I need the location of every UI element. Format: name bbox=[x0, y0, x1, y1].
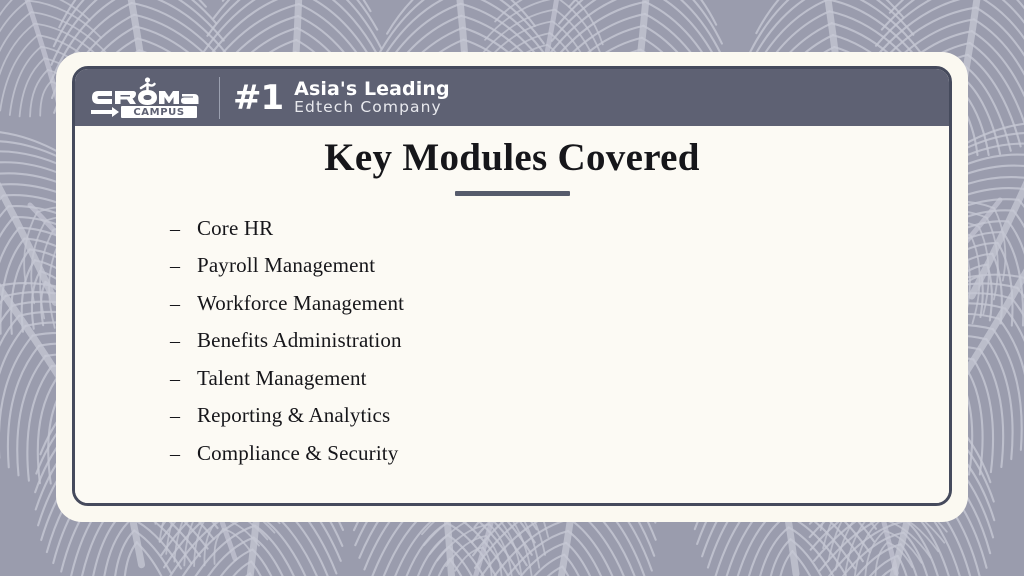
list-item: – Payroll Management bbox=[170, 253, 949, 278]
list-item: – Reporting & Analytics bbox=[170, 403, 949, 428]
slide-header: CAMPUS #1 Asia's Leading Edtech Company bbox=[75, 69, 949, 126]
bullet-dash-icon: – bbox=[170, 293, 197, 316]
list-item: – Compliance & Security bbox=[170, 441, 949, 466]
list-item: – Talent Management bbox=[170, 366, 949, 391]
page-title: Key Modules Covered bbox=[75, 136, 949, 181]
list-item: – Workforce Management bbox=[170, 291, 949, 316]
bullet-dash-icon: – bbox=[170, 443, 197, 466]
svg-text:CAMPUS: CAMPUS bbox=[133, 107, 184, 118]
rank-badge: #1 bbox=[233, 81, 283, 115]
croma-campus-logo: CAMPUS bbox=[89, 76, 205, 120]
list-item: – Benefits Administration bbox=[170, 328, 949, 353]
list-item: – Core HR bbox=[170, 216, 949, 241]
header-divider bbox=[219, 77, 220, 119]
bullet-dash-icon: – bbox=[170, 330, 197, 353]
title-underline bbox=[455, 191, 570, 196]
brand-logo-block: CAMPUS bbox=[89, 76, 205, 120]
slide-content: Key Modules Covered – Core HR – Payroll … bbox=[75, 126, 949, 503]
list-item-label: Payroll Management bbox=[197, 253, 375, 278]
list-item-label: Benefits Administration bbox=[197, 328, 402, 353]
bullet-dash-icon: – bbox=[170, 405, 197, 428]
brand-tagline: Asia's Leading Edtech Company bbox=[294, 79, 450, 116]
module-list: – Core HR – Payroll Management – Workfor… bbox=[75, 216, 949, 466]
tagline-line-1: Asia's Leading bbox=[294, 79, 450, 100]
list-item-label: Compliance & Security bbox=[197, 441, 398, 466]
bullet-dash-icon: – bbox=[170, 218, 197, 241]
presentation-slide: CAMPUS #1 Asia's Leading Edtech Company … bbox=[0, 0, 1024, 576]
bullet-dash-icon: – bbox=[170, 368, 197, 391]
bullet-dash-icon: – bbox=[170, 255, 197, 278]
list-item-label: Workforce Management bbox=[197, 291, 404, 316]
list-item-label: Reporting & Analytics bbox=[197, 403, 390, 428]
tagline-line-2: Edtech Company bbox=[294, 99, 450, 116]
list-item-label: Core HR bbox=[197, 216, 273, 241]
slide-card: CAMPUS #1 Asia's Leading Edtech Company … bbox=[72, 66, 952, 506]
list-item-label: Talent Management bbox=[197, 366, 367, 391]
title-block: Key Modules Covered bbox=[75, 126, 949, 196]
